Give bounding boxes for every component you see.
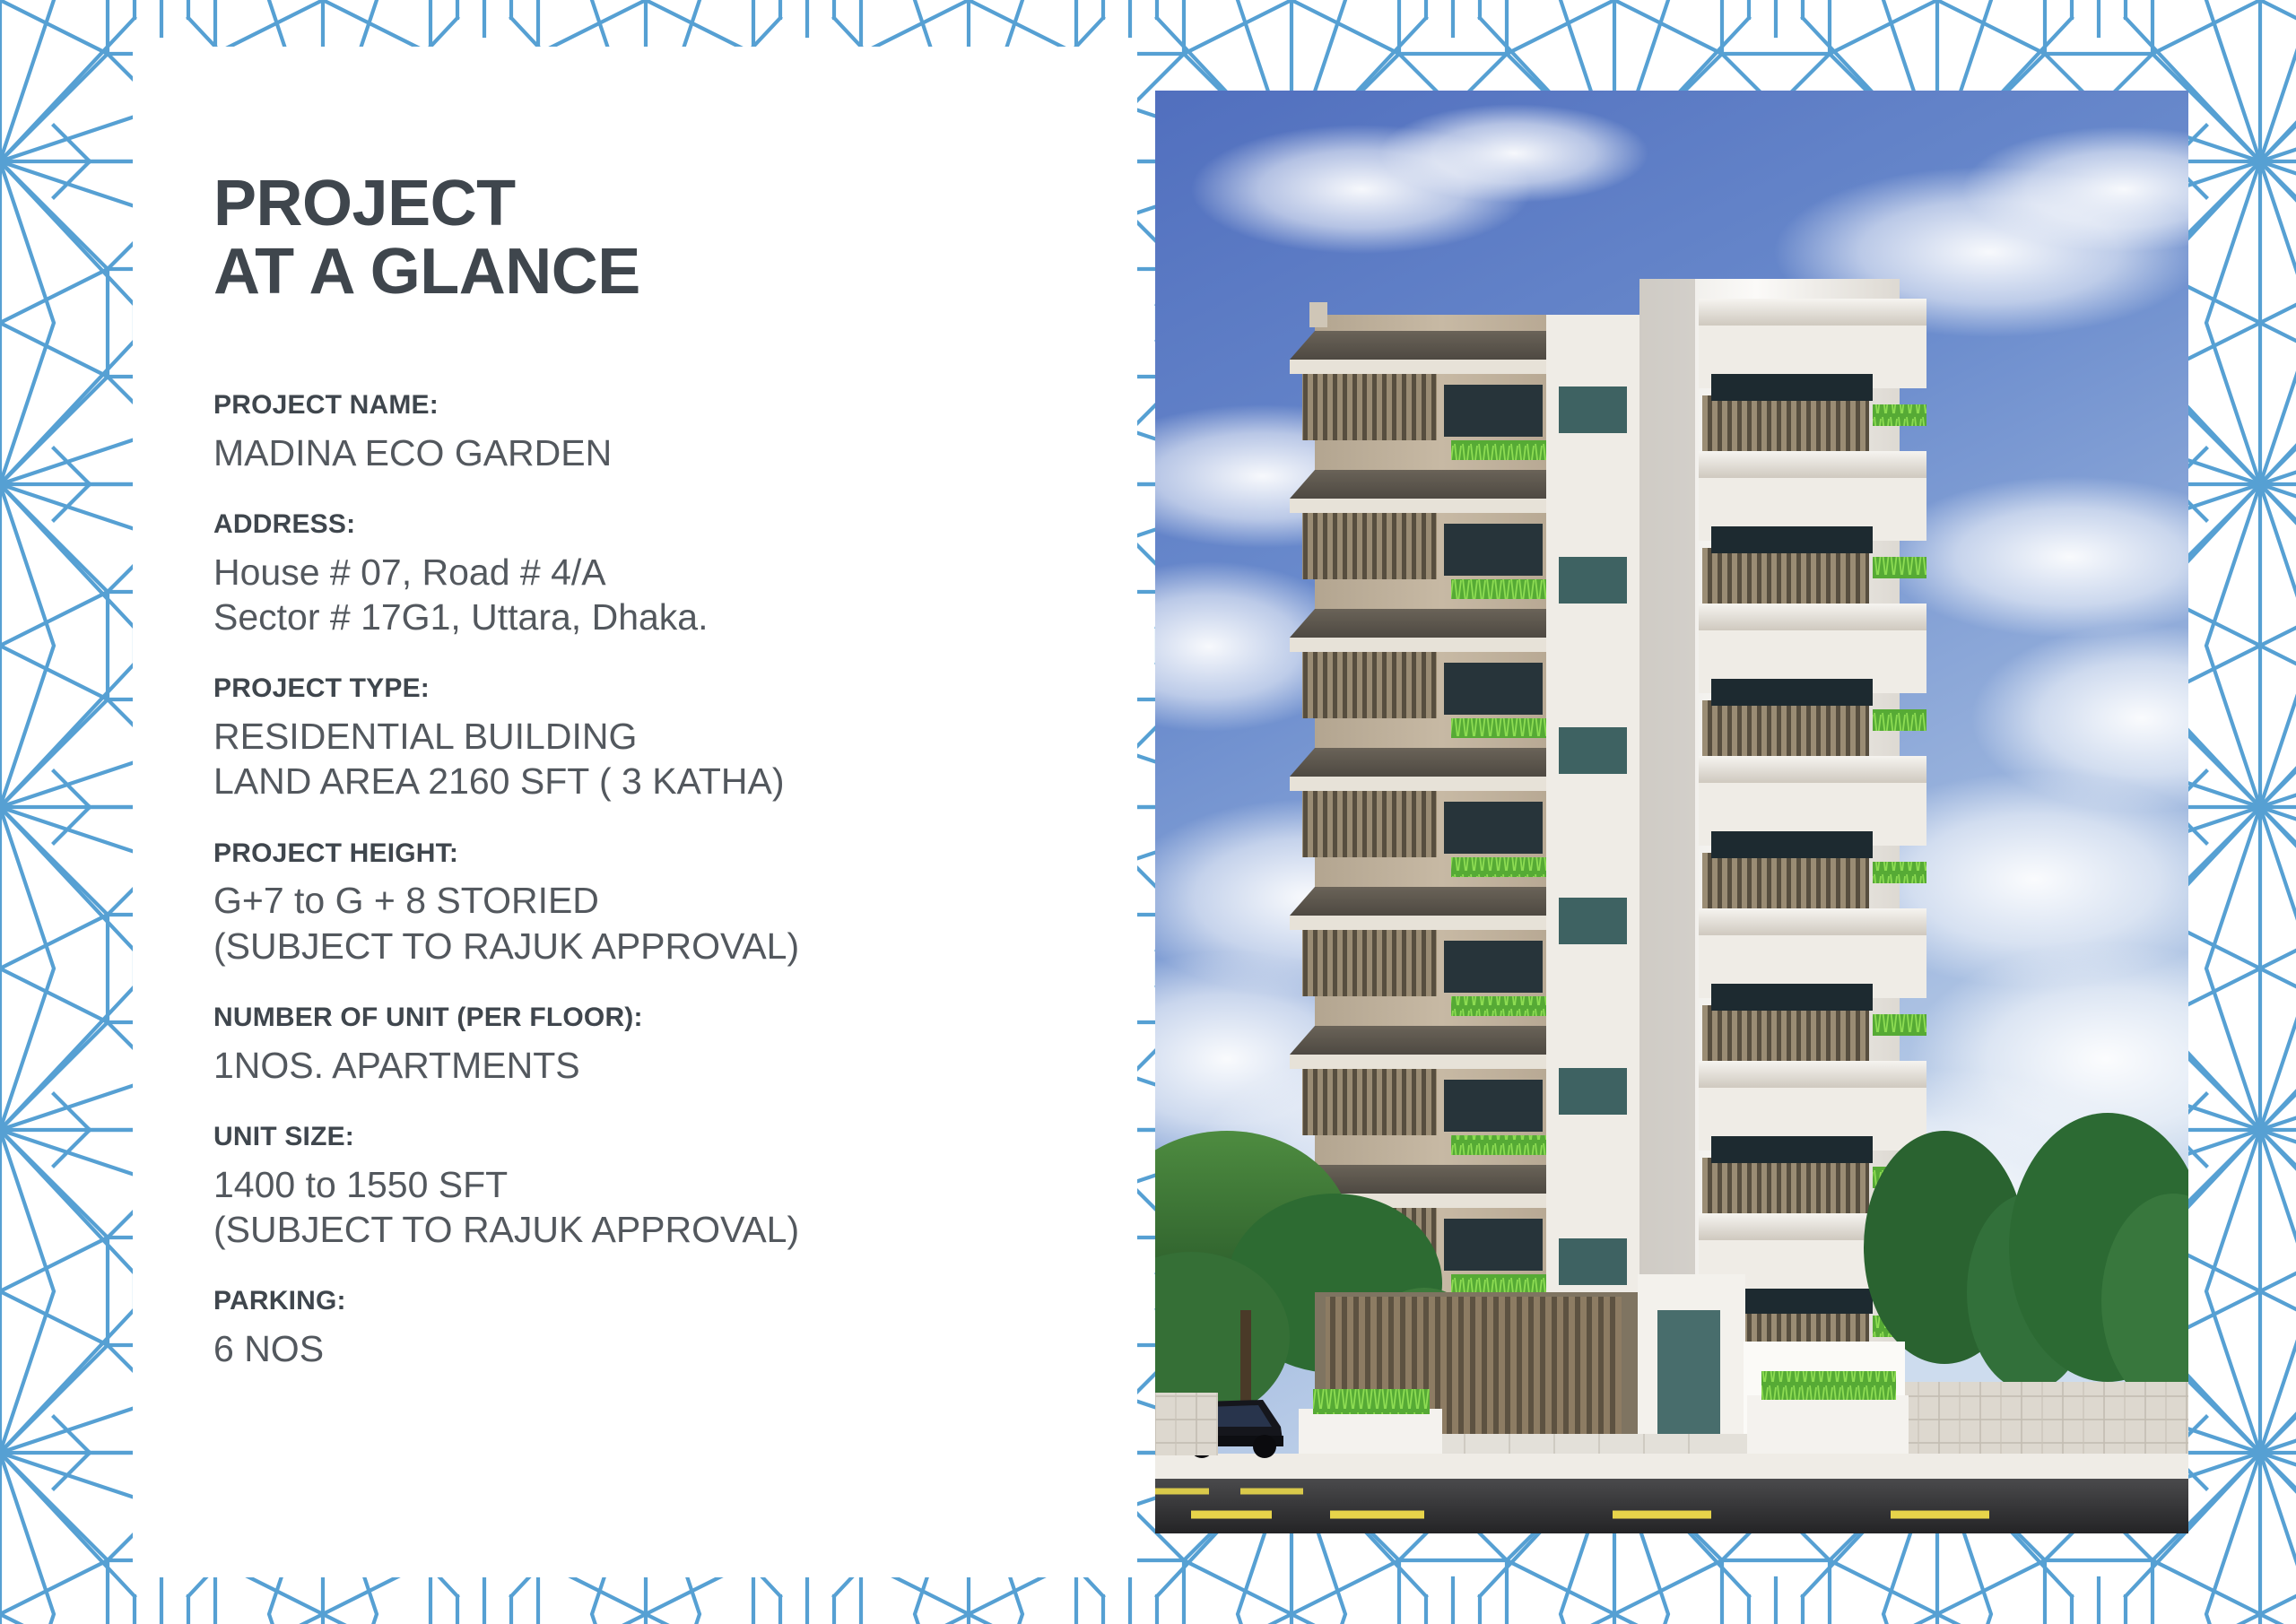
spec-value-line: 6 NOS <box>213 1326 1110 1371</box>
spec-unit-size: UNIT SIZE: 1400 to 1550 SFT (SUBJECT TO … <box>213 1120 1110 1252</box>
spec-value-line: (SUBJECT TO RAJUK APPROVAL) <box>213 924 1110 968</box>
spec-label: UNIT SIZE: <box>213 1120 1110 1154</box>
spec-project-height: PROJECT HEIGHT: G+7 to G + 8 STORIED (SU… <box>213 837 1110 968</box>
spec-value: House # 07, Road # 4/A Sector # 17G1, Ut… <box>213 550 1110 640</box>
spec-parking: PARKING: 6 NOS <box>213 1284 1110 1371</box>
spec-value: MADINA ECO GARDEN <box>213 430 1110 475</box>
brochure-page: PROJECT AT A GLANCE PROJECT NAME: MADINA… <box>0 0 2296 1624</box>
spec-label: PROJECT HEIGHT: <box>213 837 1110 871</box>
spec-value-line: 1NOS. APARTMENTS <box>213 1043 1110 1088</box>
spec-project-type: PROJECT TYPE: RESIDENTIAL BUILDING LAND … <box>213 672 1110 803</box>
spec-label: PROJECT TYPE: <box>213 672 1110 706</box>
page-title-line-2: AT A GLANCE <box>213 239 1110 307</box>
spec-label: PARKING: <box>213 1284 1110 1318</box>
page-title: PROJECT AT A GLANCE <box>213 170 1110 306</box>
spec-project-name: PROJECT NAME: MADINA ECO GARDEN <box>213 388 1110 475</box>
spec-label: NUMBER OF UNIT (PER FLOOR): <box>213 1001 1110 1035</box>
spec-value: RESIDENTIAL BUILDING LAND AREA 2160 SFT … <box>213 714 1110 804</box>
spec-value-line: LAND AREA 2160 SFT ( 3 KATHA) <box>213 759 1110 803</box>
spec-label: ADDRESS: <box>213 508 1110 542</box>
spec-value: 6 NOS <box>213 1326 1110 1371</box>
spec-value: 1NOS. APARTMENTS <box>213 1043 1110 1088</box>
spec-value-line: 1400 to 1550 SFT <box>213 1162 1110 1207</box>
spec-value-line: G+7 to G + 8 STORIED <box>213 878 1110 923</box>
spec-value-line: RESIDENTIAL BUILDING <box>213 714 1110 759</box>
page-title-line-1: PROJECT <box>213 170 1110 239</box>
left-wall <box>1155 1393 1218 1455</box>
road <box>1155 1479 2188 1533</box>
central-core <box>1546 315 1639 1391</box>
spec-label: PROJECT NAME: <box>213 388 1110 422</box>
spec-value-line: Sector # 17G1, Uttara, Dhaka. <box>213 595 1110 639</box>
building-rendering-photo <box>1155 91 2188 1533</box>
spec-value-line: (SUBJECT TO RAJUK APPROVAL) <box>213 1207 1110 1252</box>
spec-address: ADDRESS: House # 07, Road # 4/A Sector #… <box>213 508 1110 639</box>
spec-list: PROJECT AT A GLANCE PROJECT NAME: MADINA… <box>213 170 1110 1371</box>
spec-value-line: MADINA ECO GARDEN <box>213 430 1110 475</box>
spec-number-of-unit: NUMBER OF UNIT (PER FLOOR): 1NOS. APARTM… <box>213 1001 1110 1088</box>
spec-value: G+7 to G + 8 STORIED (SUBJECT TO RAJUK A… <box>213 878 1110 968</box>
spec-value: 1400 to 1550 SFT (SUBJECT TO RAJUK APPRO… <box>213 1162 1110 1253</box>
spec-value-line: House # 07, Road # 4/A <box>213 550 1110 595</box>
